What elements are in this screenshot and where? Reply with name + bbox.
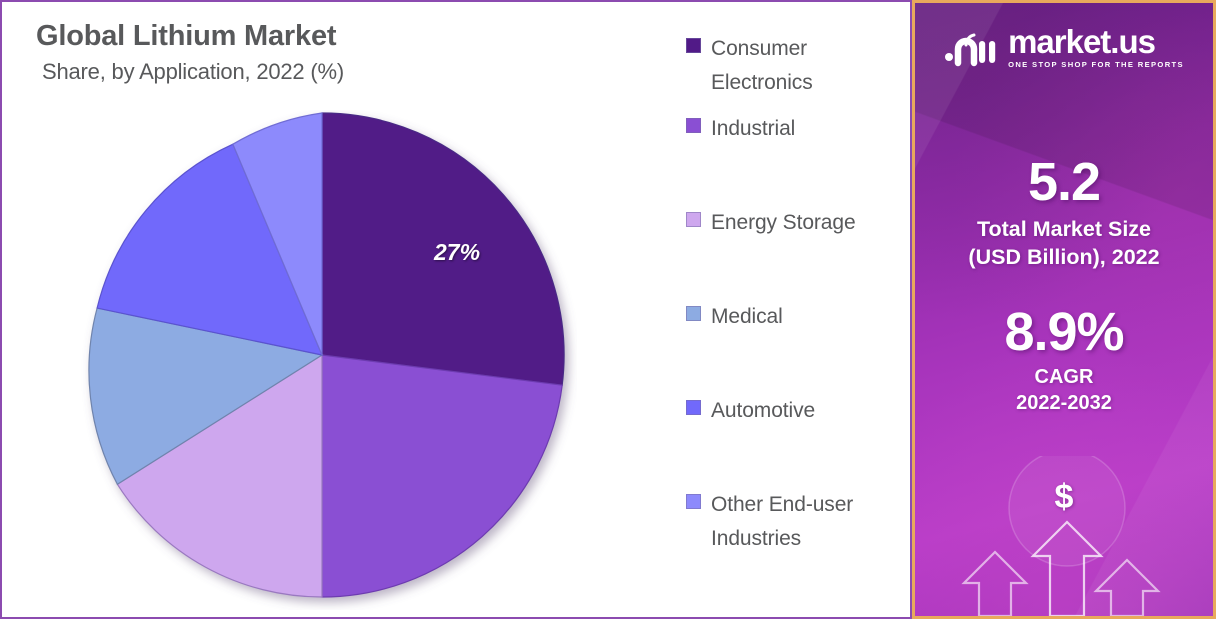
legend-swatch-icon	[686, 118, 701, 133]
brand-logo[interactable]: market.us ONE STOP SHOP FOR THE REPORTS	[915, 25, 1213, 69]
legend-swatch-icon	[686, 212, 701, 227]
market-size-caption: Total Market Size (USD Billion), 2022	[915, 216, 1213, 271]
legend-label: Automotive	[711, 394, 815, 428]
legend-swatch-icon	[686, 494, 701, 509]
legend-label: Industrial	[711, 112, 795, 146]
arrows-icon	[915, 456, 1216, 616]
legend-item-energy-storage[interactable]: Energy Storage	[686, 206, 901, 240]
legend-label: Energy Storage	[711, 206, 856, 240]
pie-chart	[77, 110, 577, 610]
legend-item-automotive[interactable]: Automotive	[686, 394, 901, 428]
page-subtitle: Share, by Application, 2022 (%)	[42, 59, 344, 85]
market-size-block: 5.2 Total Market Size (USD Billion), 202…	[915, 155, 1213, 271]
legend-item-other-end-user[interactable]: Other End-user Industries	[686, 488, 901, 556]
legend-item-medical[interactable]: Medical	[686, 300, 901, 334]
market-us-logo-icon	[944, 27, 998, 67]
legend-label: Other End-user Industries	[711, 488, 901, 556]
legend-item-consumer-electronics[interactable]: Consumer Electronics	[686, 32, 901, 100]
market-size-value: 5.2	[915, 155, 1213, 210]
chart-panel: Global Lithium Market Share, by Applicat…	[0, 0, 912, 619]
legend-label: Consumer Electronics	[711, 32, 901, 100]
legend-item-industrial[interactable]: Industrial	[686, 112, 901, 146]
cagr-value: 8.9%	[915, 305, 1213, 360]
stat-group: 5.2 Total Market Size (USD Billion), 202…	[915, 155, 1213, 416]
legend-swatch-icon	[686, 400, 701, 415]
legend-label: Medical	[711, 300, 783, 334]
cagr-caption-line2: 2022-2032	[915, 390, 1213, 416]
pie-slices-group	[89, 113, 564, 597]
pie-slice-industrial[interactable]	[322, 355, 562, 597]
page-title: Global Lithium Market	[36, 20, 344, 53]
brand-tagline: ONE STOP SHOP FOR THE REPORTS	[1008, 61, 1184, 69]
cagr-block: 8.9% CAGR 2022-2032	[915, 305, 1213, 416]
growth-arrows-decoration: $	[915, 456, 1213, 616]
pie-chart-svg	[77, 110, 577, 610]
pie-slice-consumer-electronics[interactable]	[322, 113, 564, 385]
chart-title-group: Global Lithium Market Share, by Applicat…	[36, 20, 344, 85]
dollar-sign-icon: $	[1055, 478, 1074, 517]
market-size-caption-line2: (USD Billion), 2022	[915, 244, 1213, 272]
cagr-caption: CAGR 2022-2032	[915, 364, 1213, 416]
infographic-root: Global Lithium Market Share, by Applicat…	[0, 0, 1216, 619]
market-size-caption-line1: Total Market Size	[915, 216, 1213, 244]
stat-panel: market.us ONE STOP SHOP FOR THE REPORTS …	[912, 0, 1216, 619]
legend-swatch-icon	[686, 38, 701, 53]
cagr-caption-line1: CAGR	[915, 364, 1213, 390]
chart-legend: Consumer Electronics Industrial Energy S…	[686, 32, 901, 556]
brand-wordmark: market.us	[1008, 25, 1184, 58]
brand-text-block: market.us ONE STOP SHOP FOR THE REPORTS	[1008, 25, 1184, 69]
legend-swatch-icon	[686, 306, 701, 321]
